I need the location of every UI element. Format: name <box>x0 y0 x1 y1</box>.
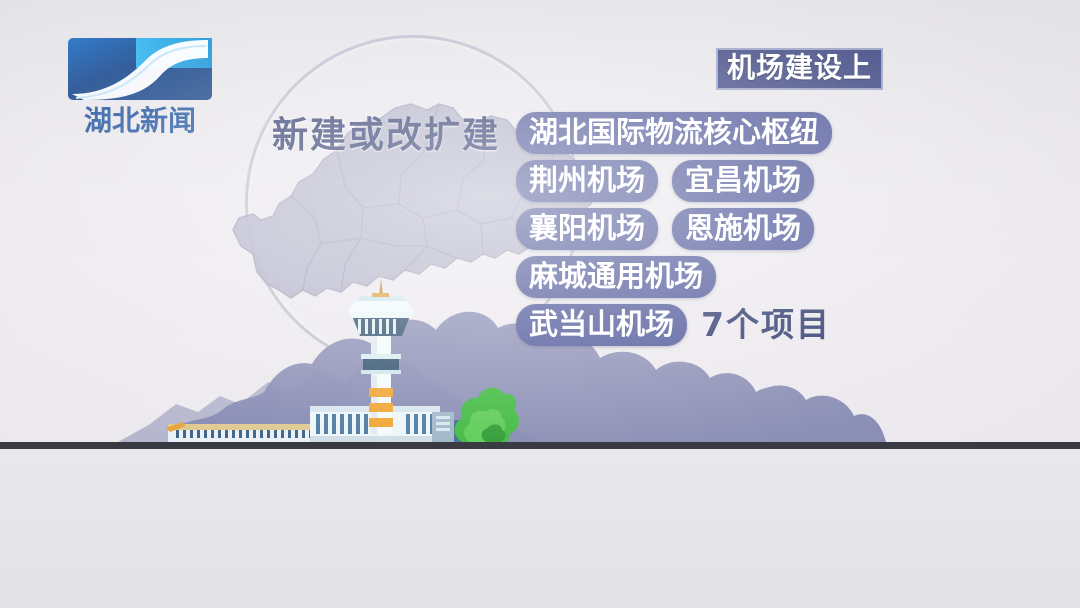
hubei-news-logo: 湖北新闻 <box>66 36 214 136</box>
headline-text: 新建或改扩建 <box>272 118 500 154</box>
project-pill: 襄阳机场 <box>516 208 658 250</box>
broadcast-screenshot: 湖北新闻 机场建设上 新建或改扩建 湖北国际物流核心枢纽 荆州机场 宜昌机场 襄… <box>0 0 1080 608</box>
topic-badge: 机场建设上 <box>716 48 883 90</box>
ground-separator-bar <box>0 442 1080 449</box>
project-pill: 湖北国际物流核心枢纽 <box>516 112 832 154</box>
terminal-wing-left <box>166 422 318 442</box>
project-row: 麻城通用机场 <box>516 256 936 298</box>
project-row: 襄阳机场 恩施机场 <box>516 208 936 250</box>
project-list: 湖北国际物流核心枢纽 荆州机场 宜昌机场 襄阳机场 恩施机场 麻城通用机场 武当… <box>516 112 936 352</box>
project-pill: 恩施机场 <box>672 208 814 250</box>
project-row: 湖北国际物流核心枢纽 <box>516 112 936 154</box>
project-row: 荆州机场 宜昌机场 <box>516 160 936 202</box>
lower-blank-panel <box>0 449 1080 608</box>
logo-text: 湖北新闻 <box>84 104 196 136</box>
broadcast-stage: 湖北新闻 机场建设上 新建或改扩建 湖北国际物流核心枢纽 荆州机场 宜昌机场 襄… <box>0 0 1080 442</box>
project-row: 武当山机场 7个项目 <box>516 304 936 346</box>
project-pill: 武当山机场 <box>516 304 687 346</box>
project-pill: 荆州机场 <box>516 160 658 202</box>
project-count-text: 7个项目 <box>701 308 831 343</box>
project-pill: 宜昌机场 <box>672 160 814 202</box>
project-pill: 麻城通用机场 <box>516 256 716 298</box>
